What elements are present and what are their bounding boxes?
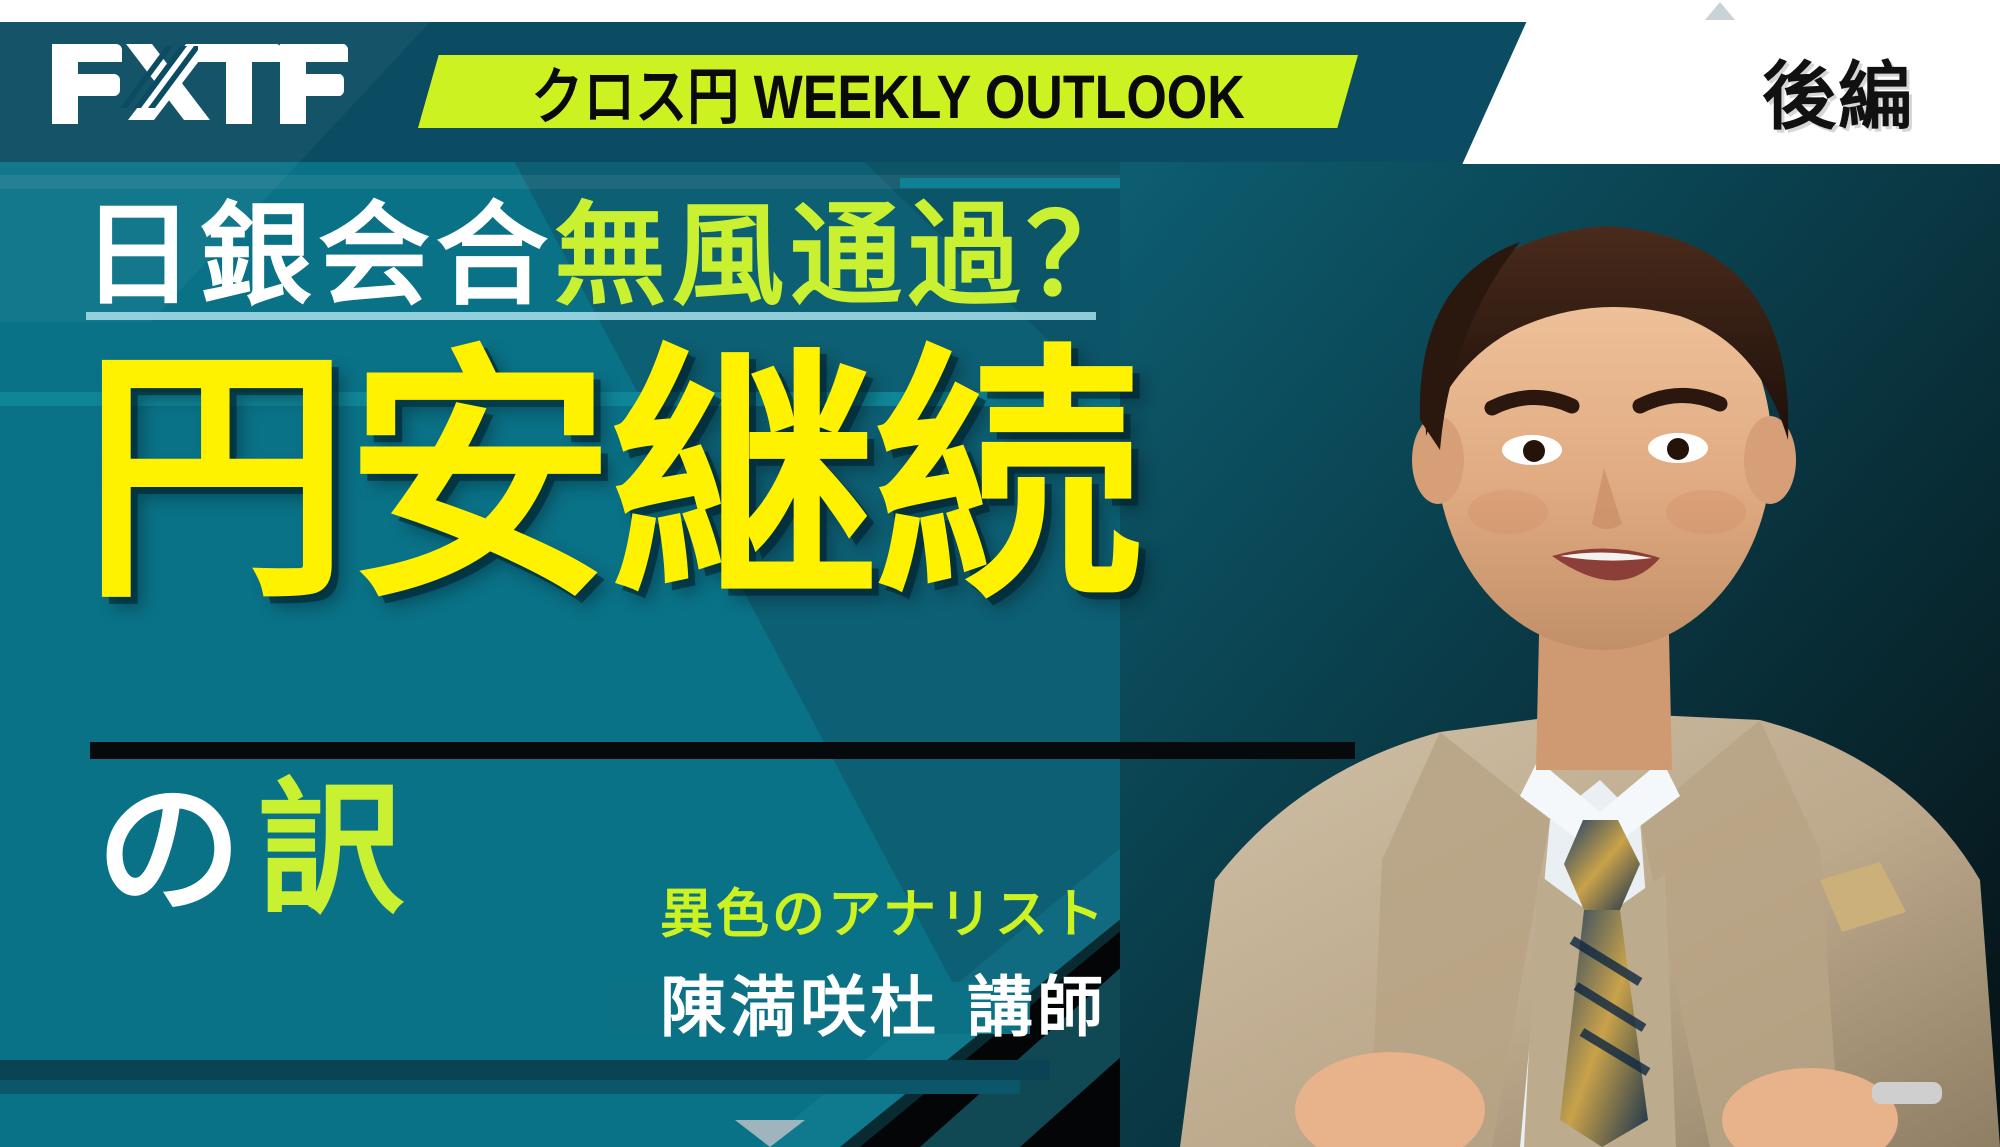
banner-label: クロス円 WEEKLY OUTLOOK bbox=[531, 47, 1245, 136]
subtitle-white-part: 日銀会合 bbox=[82, 190, 554, 321]
weekly-outlook-banner: クロス円 WEEKLY OUTLOOK bbox=[418, 55, 1358, 128]
background-lower-band bbox=[0, 1060, 1050, 1080]
subline-green-part: 訳 bbox=[258, 764, 420, 935]
subtitle-underline bbox=[86, 312, 1096, 320]
presenter-credit: 異色のアナリスト 陳満咲杜 講師 bbox=[660, 872, 1107, 1050]
presenter-role: 異色のアナリスト bbox=[660, 872, 1107, 948]
background-lower-band-2 bbox=[0, 1080, 1020, 1094]
subline: の訳 bbox=[96, 770, 420, 931]
chevron-up-icon bbox=[1705, 2, 1735, 20]
presenter-photo bbox=[1120, 120, 2000, 1147]
thumbnail-canvas: クロス円 WEEKLY OUTLOOK 後編 日銀会合無風通過？ 円安継続 の訳… bbox=[0, 0, 2000, 1147]
subline-white-part: の bbox=[96, 764, 258, 935]
presenter-name-wrap: 陳満咲杜 講師 bbox=[660, 954, 1107, 1050]
presenter-name: 陳満咲杜 講師 bbox=[660, 954, 1107, 1050]
fxtf-logo-icon bbox=[48, 38, 348, 126]
subtitle-green-part: 無風通過？ bbox=[554, 190, 1144, 321]
part-badge: 後編 bbox=[1738, 30, 1938, 150]
main-title-underline bbox=[90, 742, 1355, 759]
main-title: 円安継続 bbox=[82, 345, 1138, 613]
subtitle-line: 日銀会合無風通過？ bbox=[82, 196, 1144, 317]
